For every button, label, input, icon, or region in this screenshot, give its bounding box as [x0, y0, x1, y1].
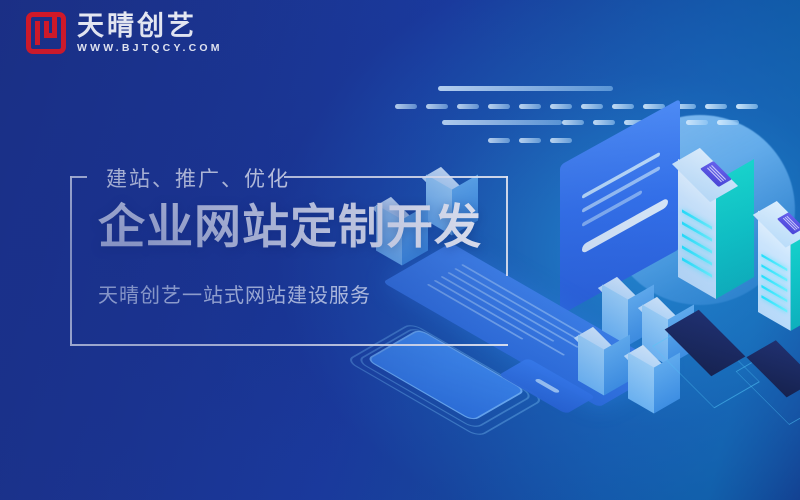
page-title: 企业网站定制开发	[98, 204, 482, 251]
tagline-text: 天晴创艺一站式网站建设服务	[98, 279, 371, 308]
bracket-bottom-rule	[70, 344, 508, 346]
headline-block: 建站、推广、优化 企业网站定制开发 天晴创艺一站式网站建设服务	[70, 176, 510, 346]
bracket-right-vertical	[506, 176, 508, 276]
promo-banner: 天晴创艺 WWW.BJTQCY.COM 建站、推广、优化 企业网站定制开发 天晴…	[0, 0, 800, 500]
brand-logo[interactable]: 天晴创艺 WWW.BJTQCY.COM	[26, 12, 223, 54]
brand-logo-text: 天晴创艺 WWW.BJTQCY.COM	[77, 13, 223, 54]
eyebrow-text: 建站、推广、优化	[98, 163, 298, 193]
bracket-left-top-stub	[70, 176, 87, 178]
company-name: 天晴创艺	[77, 13, 223, 40]
tianqing-logo-mark-icon	[26, 12, 66, 54]
bracket-right-top-rule	[284, 176, 508, 178]
company-website: WWW.BJTQCY.COM	[77, 43, 223, 54]
bracket-left-vertical	[70, 176, 72, 344]
